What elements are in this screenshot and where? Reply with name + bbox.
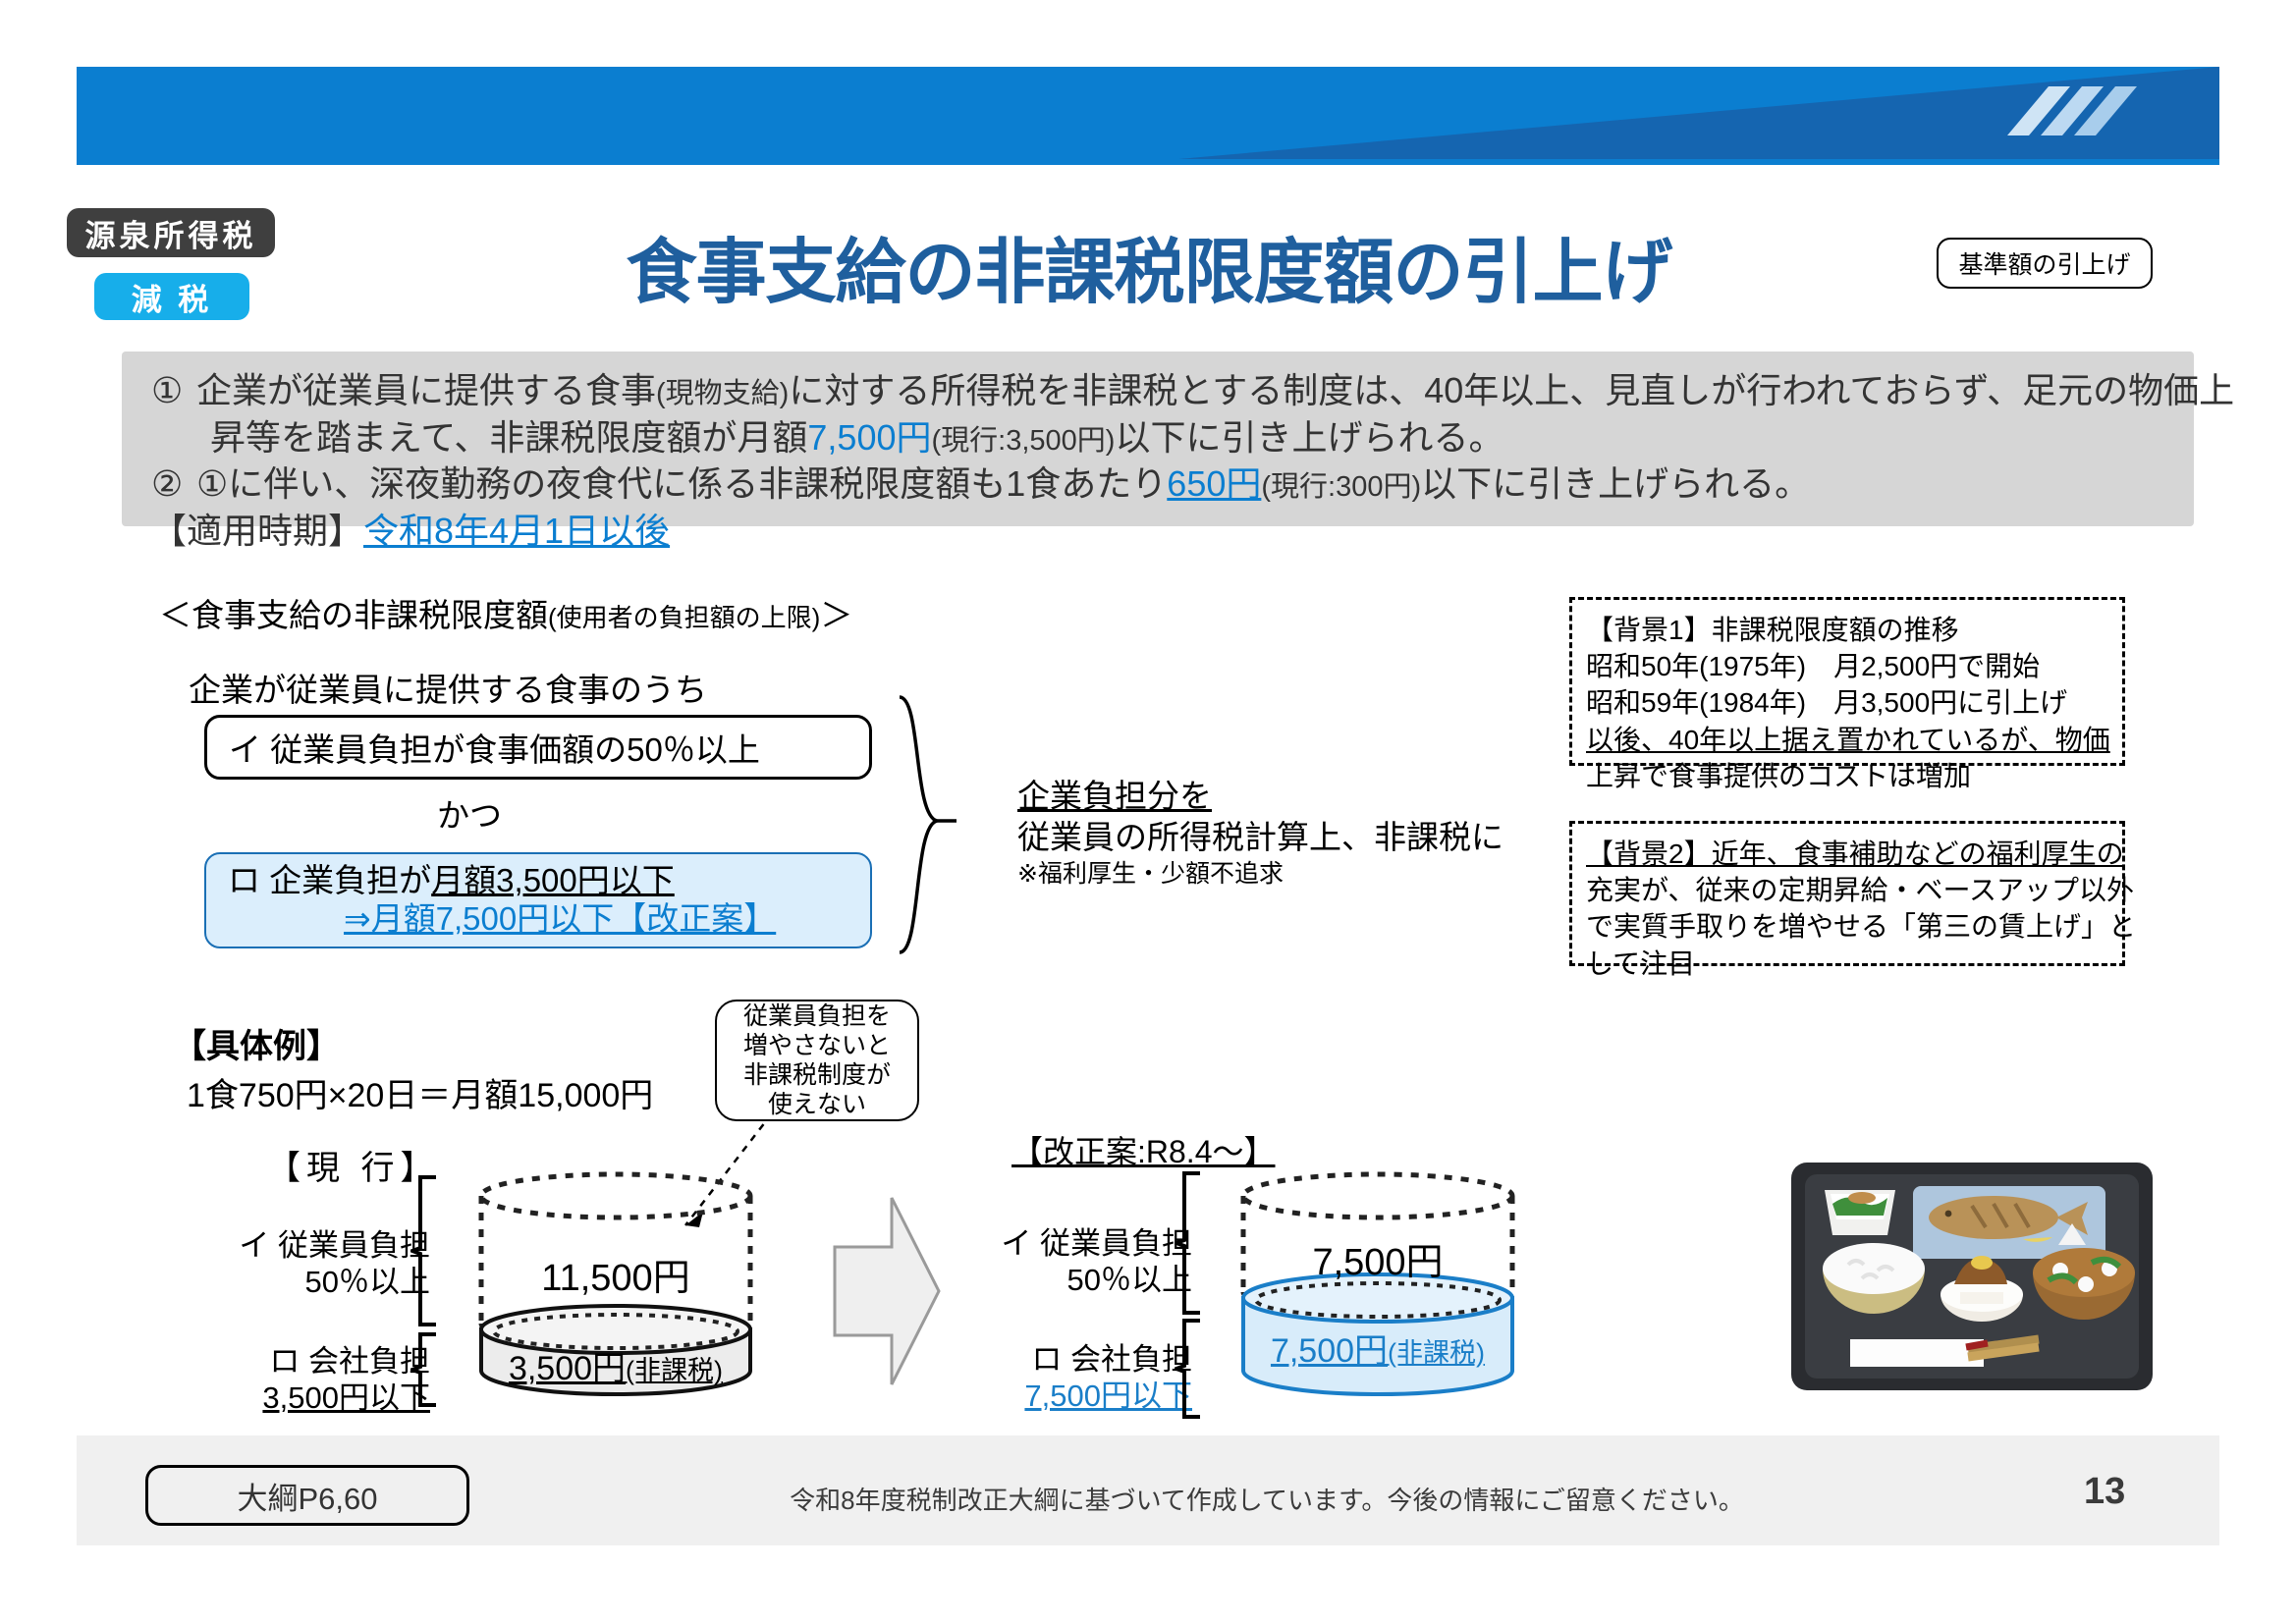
background-note-1-line-3: 以後、40年以上据え置かれているが、物価 bbox=[1586, 722, 2108, 758]
current-company-label: ロ 会社負担 3,500円以下 bbox=[185, 1343, 430, 1416]
background-note-2-line-2: 充実が、従来の定期昇給・ベースアップ以外 bbox=[1586, 872, 2108, 908]
balloon-line-4: 使えない bbox=[768, 1090, 866, 1119]
background-note-2-line-3: で実質手取りを増やせる「第三の賃上げ」と bbox=[1586, 908, 2108, 945]
summary-timing: 【適用時期】令和8年4月1日以後 bbox=[151, 508, 2170, 555]
revised-company-amount-row: 7,500円(非課税) bbox=[1235, 1324, 1520, 1372]
condition-ro-line-2: ⇒月額7,500円以下【改正案】 bbox=[228, 900, 776, 939]
background-note-1-line-4: 上昇で食事提供のコストは増加 bbox=[1586, 758, 2108, 794]
summary-item-2-current-paren: (現行:300円) bbox=[1261, 471, 1421, 503]
swoosh-logo-icon bbox=[2001, 81, 2159, 145]
summary-item-1-line-1: ①企業が従業員に提供する食事(現物支給)に対する所得税を非課税とする制度は、40… bbox=[151, 367, 2170, 414]
header-rule bbox=[77, 159, 2219, 165]
revised-company-amount: 7,500円 bbox=[1271, 1332, 1388, 1370]
diagram-heading-close: ＞ bbox=[820, 597, 852, 633]
summary-item-1-l2-a: 昇等を踏まえて、非課税限度額が月額 bbox=[210, 417, 807, 458]
background-note-1-line-2: 昭和59年(1984年) 月3,500円に引上げ bbox=[1586, 684, 2108, 721]
brace-note-line-3: ※福利厚生・少額不追求 bbox=[1017, 858, 1503, 890]
summary-timing-label: 【適用時期】 bbox=[151, 511, 363, 551]
revised-company-amount-suffix: (非課税) bbox=[1388, 1338, 1485, 1368]
page-number: 13 bbox=[2084, 1471, 2125, 1513]
diagram-lead-in: 企業が従業員に提供する食事のうち bbox=[189, 664, 707, 711]
example-heading: 【具体例】 bbox=[173, 1019, 340, 1067]
callout-balloon: 従業員負担を 増やさないと 非課税制度が 使えない bbox=[715, 1000, 919, 1121]
diagram-heading-paren: (使用者の負担額の上限) bbox=[548, 603, 820, 632]
background-note-1: 【背景1】非課税限度額の推移 昭和50年(1975年) 月2,500円で開始 昭… bbox=[1569, 597, 2125, 766]
brace-current-company-icon bbox=[410, 1331, 440, 1408]
current-employee-amount: 11,500円 bbox=[473, 1247, 758, 1301]
revised-employee-label: イ 従業員負担 50％以上 bbox=[947, 1225, 1192, 1298]
brace-current-employee-icon bbox=[410, 1174, 440, 1327]
revised-cylinder: 7,500円 7,500円(非課税) bbox=[1235, 1166, 1520, 1402]
summary-item-1-l2-b: 以下に引き上げられる。 bbox=[1115, 417, 1503, 458]
background-note-2: 【背景2】近年、食事補助などの福利厚生の 充実が、従来の定期昇給・ベースアップ以… bbox=[1569, 821, 2125, 966]
slide-canvas: 源泉所得税 減 税 食事支給の非課税限度額の引上げ 基準額の引上げ ①企業が従業… bbox=[0, 0, 2296, 1623]
condition-box-ro: ロ 企業負担が月額3,500円以下 ⇒月額7,500円以下【改正案】 bbox=[204, 852, 872, 948]
summary-item-2-amount: 650円 bbox=[1167, 463, 1261, 504]
revised-company-label: ロ 会社負担 7,500円以下 bbox=[947, 1341, 1192, 1414]
current-company-amount-row: 3,500円(非課税) bbox=[473, 1341, 758, 1389]
condition-ro-current-limit: 月額3,500円以下 bbox=[431, 862, 675, 898]
current-company-amount: 3,500円 bbox=[509, 1350, 626, 1387]
example-calculation: 1食750円×20日＝月額15,000円 bbox=[187, 1068, 653, 1116]
japanese-meal-tray-icon bbox=[1776, 1147, 2168, 1422]
balloon-line-3: 非課税制度が bbox=[743, 1060, 891, 1090]
footer-reference-pill: 大綱P6,60 bbox=[145, 1465, 469, 1526]
badge-tax-direction: 減 税 bbox=[94, 273, 249, 320]
summary-item-1-current-paren: (現行:3,500円) bbox=[932, 425, 1116, 457]
brace-note-line-2: 従業員の所得税計算上、非課税に bbox=[1017, 817, 1503, 858]
diagram-section-heading: ＜食事支給の非課税限度額(使用者の負担額の上限)＞ bbox=[159, 589, 852, 636]
summary-item-2-text-a: ①に伴い、深夜勤務の夜食代に係る非課税限度額も1食あたり bbox=[196, 463, 1167, 504]
summary-item-2-number: ② bbox=[151, 460, 196, 508]
summary-item-2: ②①に伴い、深夜勤務の夜食代に係る非課税限度額も1食あたり650円(現行:300… bbox=[151, 460, 2170, 508]
footer-disclaimer: 令和8年度税制改正大綱に基づいて作成しています。今後の情報にご留意ください。 bbox=[687, 1481, 1846, 1517]
brace-revised-company-icon bbox=[1175, 1318, 1204, 1420]
transition-arrow-icon bbox=[827, 1182, 945, 1400]
summary-item-2-text-b: 以下に引き上げられる。 bbox=[1421, 463, 1810, 504]
current-employee-label: イ 従業員負担 50％以上 bbox=[185, 1227, 430, 1300]
current-cylinder: 11,500円 3,500円(非課税) bbox=[473, 1166, 758, 1402]
condition-ro-line-1: ロ 企業負担が月額3,500円以下 bbox=[228, 862, 675, 900]
diagram-heading-a: ＜食事支給の非課税限度額 bbox=[159, 597, 548, 633]
current-employee-label-line-2: 50％以上 bbox=[185, 1264, 430, 1300]
summary-item-1-number: ① bbox=[151, 367, 196, 414]
background-note-1-line-1: 昭和50年(1975年) 月2,500円で開始 bbox=[1586, 648, 2108, 684]
background-note-2-line-4: して注目 bbox=[1586, 946, 2108, 982]
background-note-1-title: 【背景1】非課税限度額の推移 bbox=[1586, 612, 2108, 648]
brace-note-line-1: 企業負担分を bbox=[1017, 776, 1503, 817]
current-company-label-line-1: ロ 会社負担 bbox=[185, 1343, 430, 1380]
current-company-amount-suffix: (非課税) bbox=[626, 1356, 723, 1385]
summary-item-1-text-b: に対する所得税を非課税とする制度は、40年以上、見直しが行われておらず、足元の物… bbox=[789, 370, 2234, 410]
badge-tax-type: 源泉所得税 bbox=[67, 208, 275, 257]
conjunction-katsu: かつ bbox=[437, 789, 502, 837]
current-company-label-line-2: 3,500円以下 bbox=[185, 1380, 430, 1416]
condition-i-text: イ 従業員負担が食事価額の50％以上 bbox=[229, 724, 760, 771]
brace-annotation: 企業負担分を 従業員の所得税計算上、非課税に ※福利厚生・少額不追求 bbox=[1017, 776, 1503, 890]
summary-item-1-amount: 7,500円 bbox=[807, 417, 931, 458]
revised-company-label-line-1: ロ 会社負担 bbox=[947, 1341, 1192, 1378]
brace-revised-employee-icon bbox=[1175, 1170, 1204, 1316]
summary-item-1-line-2: 昇等を踏まえて、非課税限度額が月額7,500円(現行:3,500円)以下に引き上… bbox=[151, 414, 2170, 461]
condition-box-i: イ 従業員負担が食事価額の50％以上 bbox=[204, 715, 872, 780]
current-employee-label-line-1: イ 従業員負担 bbox=[185, 1227, 430, 1264]
summary-box: ①企業が従業員に提供する食事(現物支給)に対する所得税を非課税とする制度は、40… bbox=[122, 352, 2194, 526]
revised-company-label-line-2: 7,500円以下 bbox=[947, 1378, 1192, 1414]
page-title: 食事支給の非課税限度額の引上げ bbox=[550, 214, 1748, 317]
revised-employee-amount: 7,500円 bbox=[1235, 1231, 1520, 1285]
summary-item-1-paren: (現物支給) bbox=[656, 378, 789, 409]
balloon-line-2: 増やさないと bbox=[743, 1031, 891, 1060]
grouping-brace-icon bbox=[892, 693, 960, 956]
revised-employee-label-line-1: イ 従業員負担 bbox=[947, 1225, 1192, 1262]
background-note-2-line-1: 【背景2】近年、食事補助などの福利厚生の bbox=[1586, 836, 2108, 872]
condition-ro-prefix: ロ 企業負担が bbox=[228, 862, 431, 898]
category-pill: 基準額の引上げ bbox=[1937, 238, 2153, 289]
revised-employee-label-line-2: 50％以上 bbox=[947, 1262, 1192, 1298]
balloon-line-1: 従業員負担を bbox=[743, 1001, 891, 1031]
header-band bbox=[77, 67, 2219, 159]
summary-timing-value: 令和8年4月1日以後 bbox=[363, 511, 670, 551]
summary-item-1-text-a: 企業が従業員に提供する食事 bbox=[196, 370, 656, 410]
